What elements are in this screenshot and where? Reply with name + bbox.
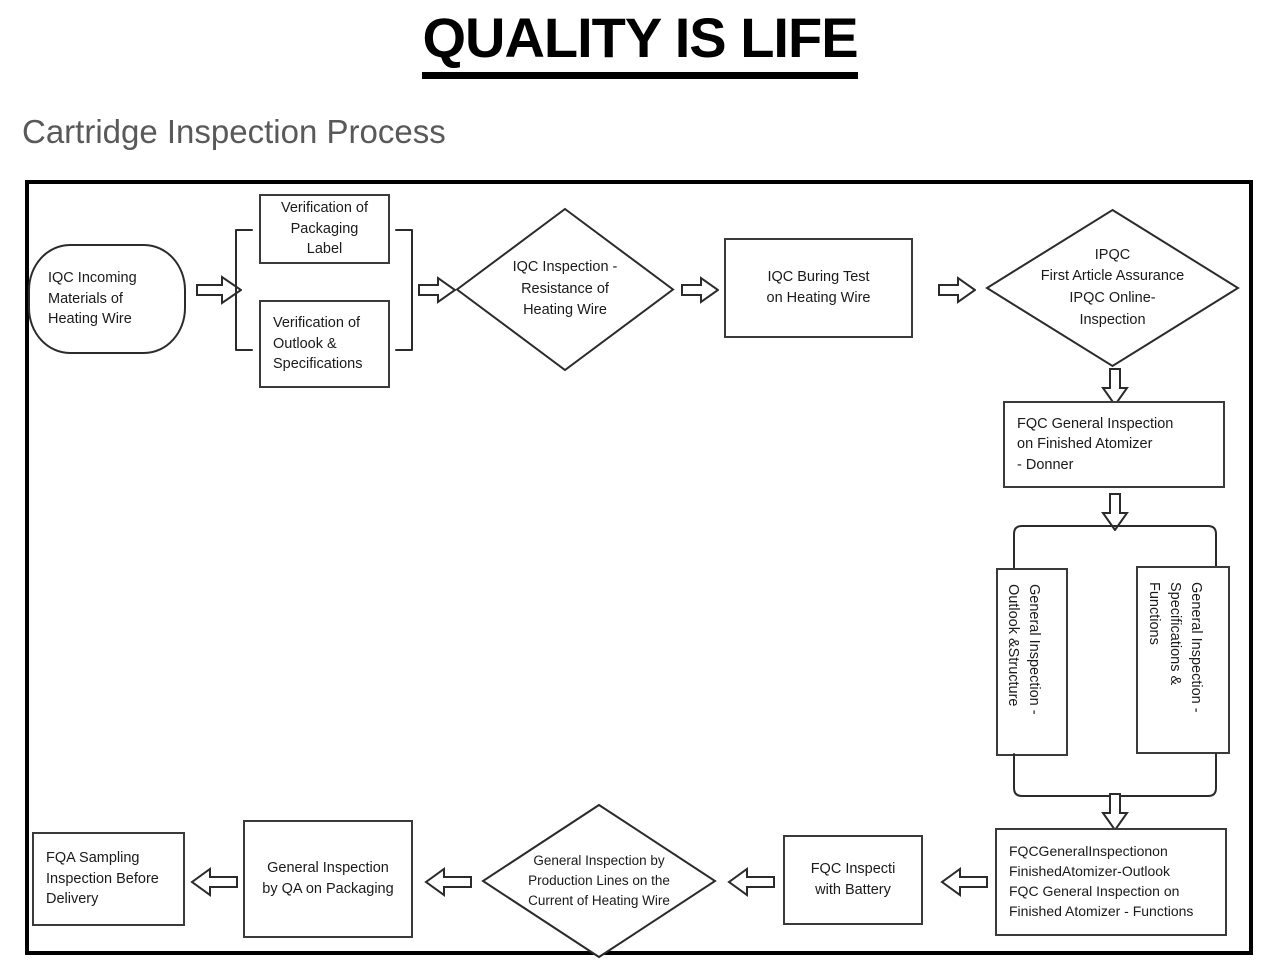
page-subtitle: Cartridge Inspection Process: [22, 113, 446, 151]
slide-canvas: QUALITY IS LIFE Cartridge Inspection Pro…: [0, 0, 1280, 967]
node-iqc-buring-test-label: IQC Buring Test on Heating Wire: [738, 267, 899, 308]
node-general-inspection-production-lines[interactable]: General Inspection by Production Lines o…: [481, 803, 717, 959]
bracket-bottom-parallel-inspections: [1012, 752, 1218, 798]
node-general-inspection-specifications-functions-label: General Inspection - Specifications & Fu…: [1143, 582, 1206, 713]
arrow-right-buring-to-ipqc: [938, 275, 976, 305]
arrow-left-qa-to-fqa: [190, 866, 238, 898]
node-verify-packaging-label[interactable]: Verification of Packaging Label: [259, 194, 390, 264]
bracket-top-parallel-inspections: [1012, 524, 1218, 570]
node-fqc-inspection-with-battery-label: FQC Inspecti with Battery: [797, 859, 909, 900]
node-fqc-inspection-with-battery[interactable]: FQC Inspecti with Battery: [783, 835, 923, 925]
node-iqc-resistance-inspection[interactable]: IQC Inspection - Resistance of Heating W…: [455, 207, 675, 372]
node-fqc-donner[interactable]: FQC General Inspection on Finished Atomi…: [1003, 401, 1225, 488]
node-iqc-buring-test[interactable]: IQC Buring Test on Heating Wire: [724, 238, 913, 338]
node-general-inspection-outlook-structure[interactable]: General Inspection - Outlook &Structure: [996, 568, 1068, 756]
node-fqc-donner-label: FQC General Inspection on Finished Atomi…: [1017, 414, 1211, 476]
arrow-left-production-to-qa: [424, 866, 472, 898]
node-iqc-incoming-materials-label: IQC Incoming Materials of Heating Wire: [48, 268, 137, 330]
node-verify-outlook-specifications[interactable]: Verification of Outlook & Specifications: [259, 300, 390, 388]
node-fqa-sampling-inspection[interactable]: FQA Sampling Inspection Before Delivery: [32, 832, 185, 926]
arrow-left-battery-to-production: [727, 866, 775, 898]
node-fqa-sampling-inspection-label: FQA Sampling Inspection Before Delivery: [46, 848, 171, 910]
node-general-inspection-qa-packaging-label: General Inspection by QA on Packaging: [257, 858, 399, 899]
page-title: QUALITY IS LIFE: [0, 6, 1280, 79]
arrow-down-merge-to-fqc-outlook: [1100, 793, 1130, 831]
bracket-right-verification-group: [394, 228, 416, 352]
node-verify-outlook-specifications-text: Verification of Outlook & Specifications: [273, 313, 376, 375]
diamond-shape: [455, 207, 675, 372]
node-verify-packaging-label-text: Verification of Packaging Label: [273, 198, 376, 260]
node-ipqc-first-article-assurance[interactable]: IPQC First Article Assurance IPQC Online…: [985, 208, 1240, 368]
node-fqc-outlook-functions-label: FQCGeneralInspectionon FinishedAtomizer-…: [1009, 842, 1213, 922]
node-general-inspection-qa-packaging[interactable]: General Inspection by QA on Packaging: [243, 820, 413, 938]
arrow-right-resistance-to-buring: [681, 275, 719, 305]
node-general-inspection-outlook-structure-label: General Inspection - Outlook &Structure: [1002, 584, 1044, 715]
node-general-inspection-specifications-functions[interactable]: General Inspection - Specifications & Fu…: [1136, 566, 1230, 754]
arrow-left-fqc-outlook-to-battery: [940, 866, 988, 898]
bracket-left-verification-group: [232, 228, 254, 352]
node-fqc-outlook-functions[interactable]: FQCGeneralInspectionon FinishedAtomizer-…: [995, 828, 1227, 936]
node-iqc-incoming-materials[interactable]: IQC Incoming Materials of Heating Wire: [28, 244, 186, 354]
diamond-shape: [481, 803, 717, 959]
arrow-right-verification-to-resistance: [418, 275, 456, 305]
page-title-text: QUALITY IS LIFE: [422, 6, 857, 79]
diamond-shape: [985, 208, 1240, 368]
